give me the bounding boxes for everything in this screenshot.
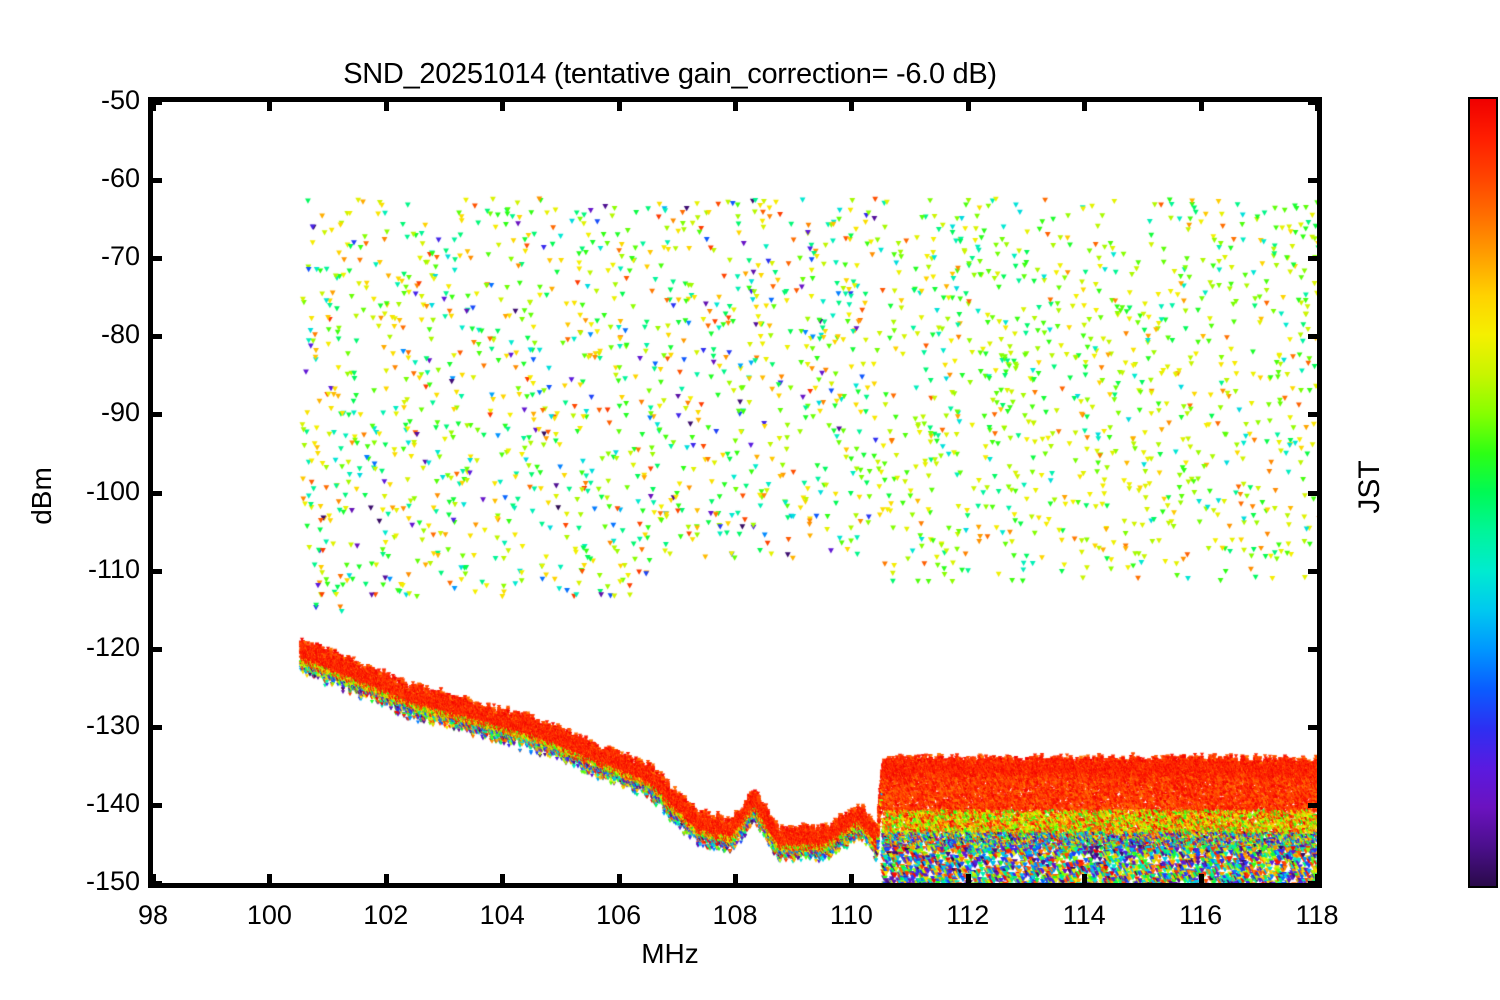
x-tick-label: 116 — [1141, 900, 1261, 931]
x-tick — [1315, 97, 1320, 111]
y-tick — [148, 647, 162, 652]
y-tick — [1308, 334, 1322, 339]
y-tick-label: -90 — [20, 397, 140, 428]
y-tick-label: -70 — [20, 241, 140, 272]
plot-title: SND_20251014 (tentative gain_correction=… — [0, 58, 1340, 91]
y-tick — [148, 334, 162, 339]
x-tick — [966, 97, 971, 111]
x-tick-label: 102 — [326, 900, 446, 931]
colorbar-gradient — [1470, 99, 1496, 886]
x-tick — [1199, 874, 1204, 888]
x-tick — [849, 874, 854, 888]
x-tick-label: 98 — [93, 900, 213, 931]
y-tick — [148, 803, 162, 808]
colorbar-title: JST — [1353, 417, 1387, 557]
x-tick — [384, 97, 389, 111]
x-tick — [733, 874, 738, 888]
y-tick — [1308, 178, 1322, 183]
x-tick-label: 108 — [675, 900, 795, 931]
x-tick — [151, 97, 156, 111]
x-tick — [617, 97, 622, 111]
x-tick — [500, 874, 505, 888]
y-axis-title: dBm — [26, 426, 58, 566]
plot-area[interactable] — [148, 97, 1322, 888]
x-tick-label: 110 — [791, 900, 911, 931]
x-tick — [267, 97, 272, 111]
y-tick — [148, 412, 162, 417]
y-tick — [148, 569, 162, 574]
x-tick — [1082, 874, 1087, 888]
x-tick — [733, 97, 738, 111]
y-tick — [1308, 569, 1322, 574]
y-tick-label: -50 — [20, 85, 140, 116]
y-tick-label: -150 — [20, 866, 140, 897]
x-tick-label: 100 — [209, 900, 329, 931]
y-tick — [148, 491, 162, 496]
x-tick — [151, 874, 156, 888]
x-tick — [966, 874, 971, 888]
y-tick-label: -130 — [20, 710, 140, 741]
x-tick-label: 106 — [559, 900, 679, 931]
x-tick-label: 112 — [908, 900, 1028, 931]
y-tick — [1308, 803, 1322, 808]
y-tick-label: -80 — [20, 319, 140, 350]
y-tick — [148, 725, 162, 730]
figure-root: SND_20251014 (tentative gain_correction=… — [0, 0, 1500, 1000]
y-tick-label: -140 — [20, 788, 140, 819]
y-tick — [148, 256, 162, 261]
x-tick-label: 114 — [1024, 900, 1144, 931]
y-tick — [1308, 647, 1322, 652]
x-tick — [500, 97, 505, 111]
y-tick — [1308, 491, 1322, 496]
colorbar — [1468, 97, 1498, 888]
y-tick — [148, 178, 162, 183]
x-tick — [1082, 97, 1087, 111]
scatter-canvas — [153, 102, 1317, 883]
y-tick — [1308, 725, 1322, 730]
x-tick-label: 118 — [1257, 900, 1377, 931]
x-tick — [849, 97, 854, 111]
x-tick — [617, 874, 622, 888]
y-tick — [1308, 256, 1322, 261]
y-tick-label: -120 — [20, 632, 140, 663]
x-tick-label: 104 — [442, 900, 562, 931]
x-tick — [384, 874, 389, 888]
x-tick — [1199, 97, 1204, 111]
x-axis-title: MHz — [0, 938, 1340, 970]
x-tick — [267, 874, 272, 888]
y-tick — [1308, 412, 1322, 417]
y-tick-label: -60 — [20, 163, 140, 194]
x-tick — [1315, 874, 1320, 888]
